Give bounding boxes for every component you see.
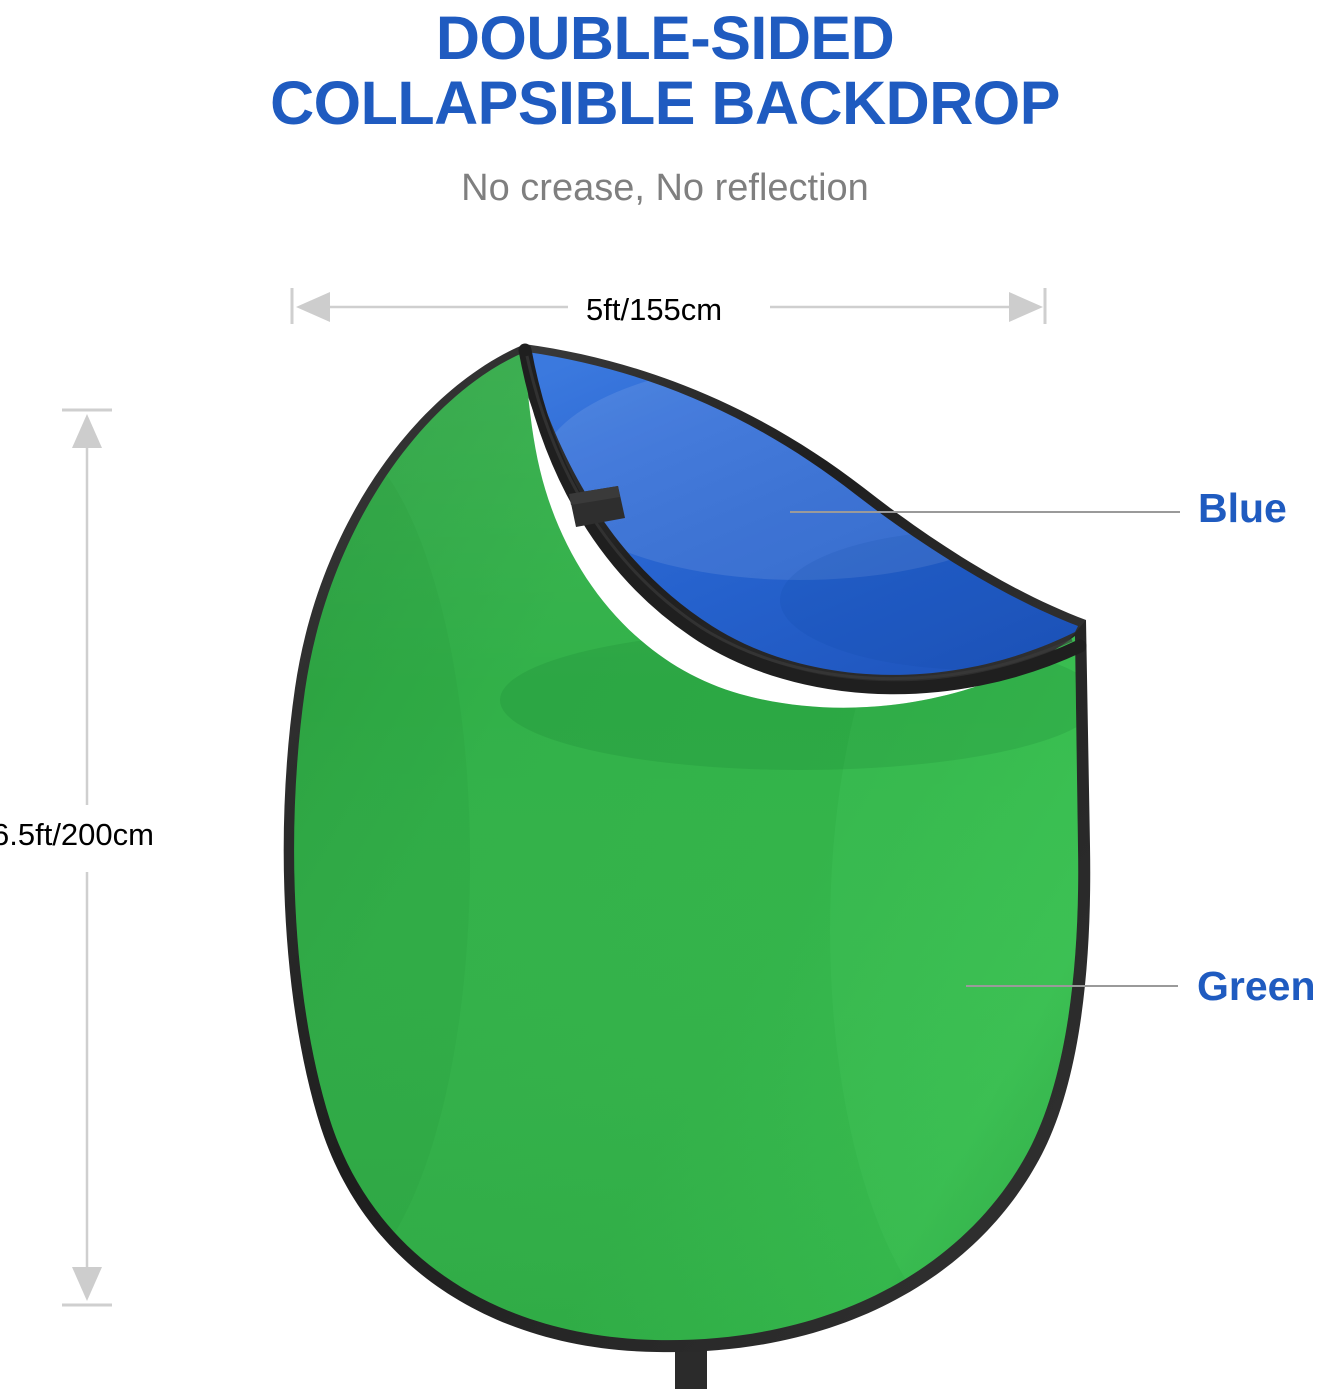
product-illustration (0, 0, 1330, 1389)
height-dimension-label: 6.5ft/200cm (0, 817, 154, 853)
width-dimension-label: 5ft/155cm (586, 292, 722, 328)
height-dimension-arrow (62, 410, 112, 1305)
callout-label-blue: Blue (1198, 485, 1287, 532)
callout-label-green: Green (1197, 963, 1316, 1010)
